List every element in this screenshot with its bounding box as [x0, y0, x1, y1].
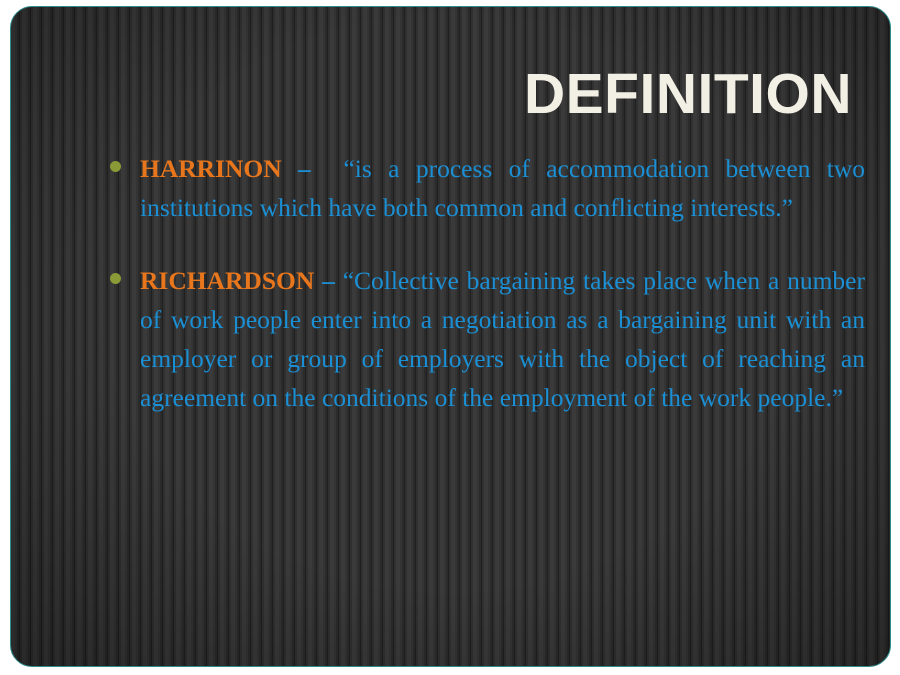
speaker-name: RICHARDSON — [140, 266, 314, 295]
definition-bullet-list: HARRINON – “is a process of accommodatio… — [107, 149, 865, 417]
olive-dot-bullet-icon — [110, 273, 121, 284]
name-dash: – — [298, 154, 311, 183]
olive-dot-bullet-icon — [110, 161, 121, 172]
slide-stage: DEFINITION HARRINON – “is a process of a… — [0, 0, 900, 675]
bullet-text-block: RICHARDSON – “Collective bargaining take… — [140, 261, 865, 417]
speaker-name: HARRINON — [140, 154, 282, 183]
list-item: RICHARDSON – “Collective bargaining take… — [107, 261, 865, 417]
name-dash: – — [322, 266, 335, 295]
presentation-slide: DEFINITION HARRINON – “is a process of a… — [10, 6, 891, 667]
bullet-text-block: HARRINON – “is a process of accommodatio… — [140, 149, 865, 227]
page-title: DEFINITION — [524, 65, 852, 125]
list-item: HARRINON – “is a process of accommodatio… — [107, 149, 865, 227]
